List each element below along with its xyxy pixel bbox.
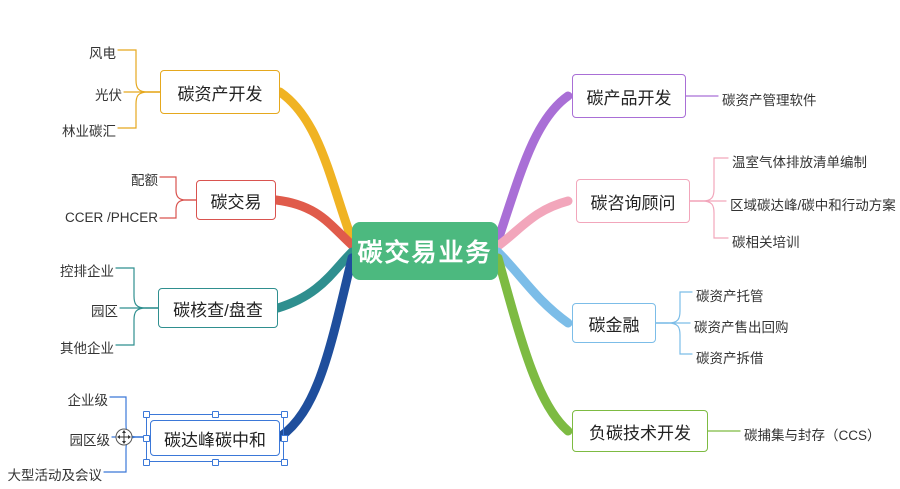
branch-label: 碳交易	[211, 188, 262, 213]
branch-label: 碳咨询顾问	[591, 189, 676, 214]
leaf-connector-碳相关培训	[690, 201, 728, 238]
leaf-label-ccs[interactable]: 碳捕集与封存（CCS）	[744, 424, 881, 444]
leaf-label-other-enterprises[interactable]: 其他企业	[34, 337, 114, 357]
leaf-label-carbon-training[interactable]: 碳相关培训	[732, 231, 800, 251]
leaf-label-regional-peak-neutral-plan[interactable]: 区域碳达峰/碳中和行动方案	[730, 194, 896, 214]
leaf-connector-碳资产拆借	[656, 323, 692, 354]
leaf-label-large-events-meetings[interactable]: 大型活动及会议	[4, 464, 102, 484]
leaf-label-ccer-phcer[interactable]: CCER /PHCER	[44, 210, 158, 225]
connector-negative-carbon-tech	[498, 258, 568, 431]
branch-label: 碳产品开发	[587, 84, 672, 109]
leaf-label-ghg-inventory[interactable]: 温室气体排放清单编制	[732, 151, 867, 171]
leaf-label-carbon-asset-lending[interactable]: 碳资产拆借	[696, 347, 764, 367]
leaf-label-carbon-asset-custody[interactable]: 碳资产托管	[696, 285, 764, 305]
leaf-connector-CCER	[160, 200, 196, 218]
leaf-label-wind-power[interactable]: 风电	[38, 42, 116, 62]
resize-handle-ne[interactable]	[281, 411, 288, 418]
branch-node-carbon-finance[interactable]: 碳金融	[572, 303, 656, 343]
branch-label: 碳金融	[589, 311, 640, 336]
branch-label: 负碳技术开发	[589, 419, 691, 444]
leaf-label-photovoltaic[interactable]: 光伏	[38, 84, 122, 104]
resize-handle-e[interactable]	[281, 435, 288, 442]
resize-handle-se[interactable]	[281, 459, 288, 466]
leaf-connector-配额	[160, 177, 196, 200]
selection-box[interactable]	[146, 414, 284, 462]
leaf-label-park[interactable]: 园区	[62, 300, 118, 320]
center-node[interactable]: 碳交易业务	[352, 222, 498, 280]
resize-handle-s[interactable]	[212, 459, 219, 466]
leaf-connector-碳资产托管	[656, 292, 692, 323]
branch-node-carbon-consulting[interactable]: 碳咨询顾问	[576, 179, 690, 223]
leaf-label-carbon-asset-repurchase[interactable]: 碳资产售出回购	[694, 316, 789, 336]
leaf-connector-其他企业	[116, 308, 158, 345]
leaf-label-controlled-enterprises[interactable]: 控排企业	[34, 260, 114, 280]
branch-node-carbon-trading[interactable]: 碳交易	[196, 180, 276, 220]
branch-label: 碳资产开发	[178, 80, 263, 105]
mindmap-canvas: 碳交易业务 碳资产开发 碳交易 碳核查/盘查 碳达峰碳中和 碳产品开发 碳咨询顾…	[0, 0, 900, 489]
leaf-connector-林业碳汇	[118, 92, 160, 128]
leaf-label-forestry-carbon-sink[interactable]: 林业碳汇	[18, 120, 116, 140]
resize-handle-w[interactable]	[143, 435, 150, 442]
leaf-label-carbon-asset-management-software[interactable]: 碳资产管理软件	[722, 89, 817, 109]
leaf-connector-温室气体排放清单编制	[690, 158, 728, 201]
resize-handle-nw[interactable]	[143, 411, 150, 418]
center-node-label: 碳交易业务	[357, 233, 492, 269]
branch-node-carbon-verification[interactable]: 碳核查/盘查	[158, 288, 278, 328]
leaf-connector-风电	[118, 50, 160, 92]
move-cursor-icon	[114, 427, 134, 447]
resize-handle-sw[interactable]	[143, 459, 150, 466]
branch-label: 碳核查/盘查	[173, 296, 263, 321]
branch-node-carbon-product-development[interactable]: 碳产品开发	[572, 74, 686, 118]
leaf-label-park-level[interactable]: 园区级	[38, 429, 110, 449]
leaf-connector-控排企业	[116, 268, 158, 308]
leaf-label-enterprise-level[interactable]: 企业级	[34, 389, 108, 409]
leaf-label-quota[interactable]: 配额	[80, 169, 158, 189]
branch-node-carbon-asset-development[interactable]: 碳资产开发	[160, 70, 280, 114]
branch-node-negative-carbon-tech[interactable]: 负碳技术开发	[572, 410, 708, 452]
resize-handle-n[interactable]	[212, 411, 219, 418]
